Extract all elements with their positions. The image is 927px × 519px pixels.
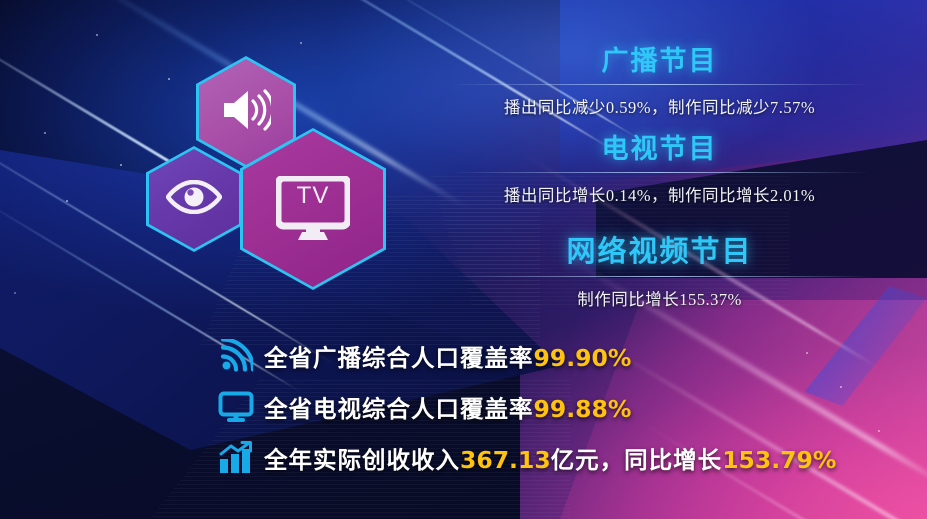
- stat-row-revenue: 全年实际创收收入367.13亿元，同比增长153.79%: [208, 434, 908, 482]
- stat-value: 99.90%: [534, 344, 632, 372]
- section-tv-subtitle: 播出同比增长0.14%，制作同比增长2.01%: [392, 182, 927, 206]
- stat-value-revenue: 367.13: [460, 446, 551, 474]
- tv-monitor-icon: TV: [276, 176, 350, 242]
- stat-row-radio-coverage: 全省广播综合人口覆盖率99.90%: [208, 332, 908, 380]
- speaker-icon: [221, 88, 271, 137]
- eye-icon: [166, 180, 222, 219]
- stat-text-tv-coverage: 全省电视综合人口覆盖率99.88%: [264, 390, 631, 424]
- stat-label-mid: 亿元，同比增长: [551, 447, 723, 473]
- section-radio: 广播节目 播出同比减少0.59%，制作同比减少7.57%: [392, 48, 927, 118]
- section-radio-subtitle: 播出同比减少0.59%，制作同比减少7.57%: [392, 94, 927, 118]
- section-online-video: 网络视频节目 制作同比增长155.37%: [392, 238, 927, 310]
- stat-row-tv-coverage: 全省电视综合人口覆盖率99.88%: [208, 383, 908, 431]
- stat-value: 99.88%: [534, 395, 632, 423]
- section-tv-title: 电视节目: [392, 136, 927, 163]
- section-radio-divider: [450, 84, 870, 85]
- stat-label: 全省电视综合人口覆盖率: [264, 396, 534, 422]
- stat-text-revenue: 全年实际创收收入367.13亿元，同比增长153.79%: [264, 441, 836, 475]
- section-tv-divider: [450, 172, 870, 173]
- tv-label: TV: [276, 182, 350, 210]
- section-online-video-title: 网络视频节目: [392, 238, 927, 267]
- infographic-canvas: TV 广播节目 播出同比减少0.59%，制作同比减少7.57% 电视节目 播出同…: [0, 0, 927, 519]
- key-statistics-list: 全省广播综合人口覆盖率99.90% 全省电视综合人口覆盖率99.88%: [208, 332, 908, 485]
- stat-label: 全年实际创收收入: [264, 447, 460, 473]
- section-tv: 电视节目 播出同比增长0.14%，制作同比增长2.01%: [392, 136, 927, 206]
- stat-text-radio-coverage: 全省广播综合人口覆盖率99.90%: [264, 339, 631, 373]
- section-online-video-subtitle: 制作同比增长155.37%: [392, 286, 927, 310]
- stat-value-growth: 153.79%: [722, 446, 836, 474]
- stat-label: 全省广播综合人口覆盖率: [264, 345, 534, 371]
- hexagon-eye: [146, 146, 242, 252]
- broadcast-waves-icon: [208, 339, 264, 373]
- section-radio-title: 广播节目: [392, 48, 927, 75]
- program-sections-panel: 广播节目 播出同比减少0.59%，制作同比减少7.57% 电视节目 播出同比增长…: [392, 0, 927, 330]
- section-online-video-divider: [450, 276, 870, 277]
- media-icon-cluster: TV: [138, 48, 398, 298]
- monitor-icon: [208, 391, 264, 423]
- bar-chart-growth-icon: [208, 441, 264, 475]
